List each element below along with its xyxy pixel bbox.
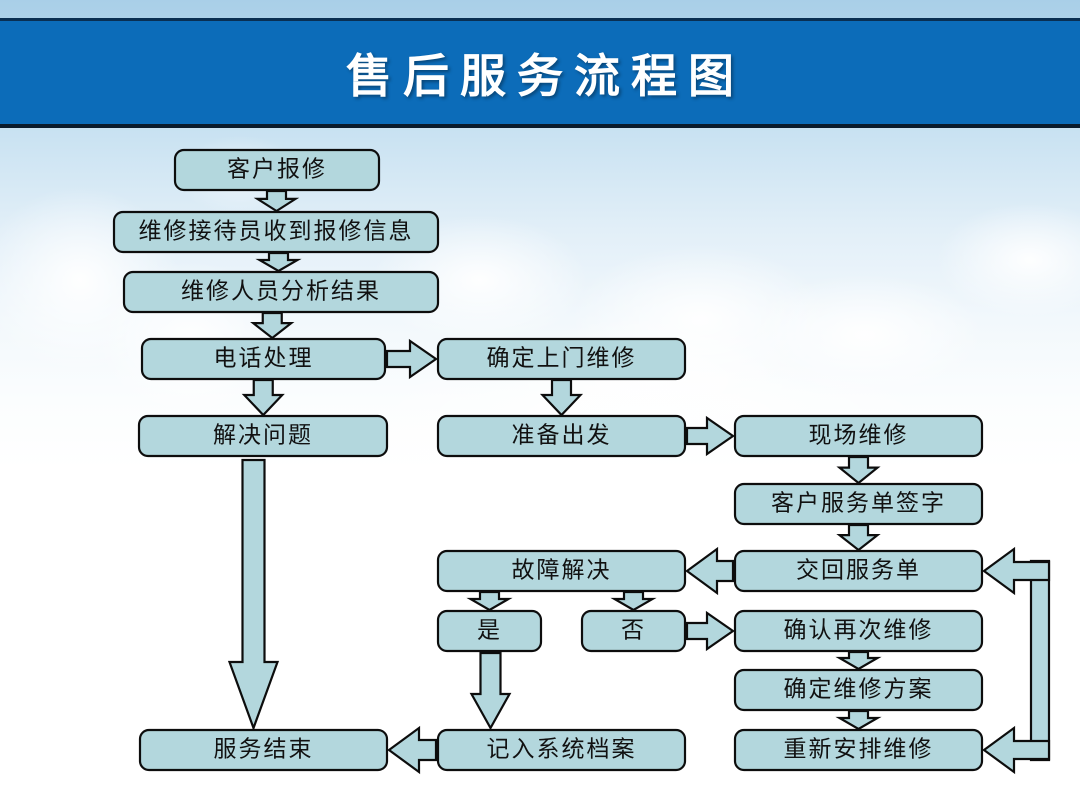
flow-arrow-down — [471, 592, 509, 610]
flow-node-label: 否 — [621, 617, 646, 642]
flow-arrow-down — [472, 653, 510, 728]
flow-node-label: 电话处理 — [214, 345, 314, 370]
flow-node-label: 客户服务单签字 — [771, 490, 946, 515]
flow-node-label: 是 — [477, 617, 502, 642]
flow-node-label: 重新安排维修 — [784, 736, 934, 761]
flow-node-label: 维修人员分析结果 — [181, 278, 381, 303]
flow-arrow-long-down — [230, 460, 278, 728]
flow-arrow-left — [389, 728, 436, 772]
flow-loop-spine — [1031, 561, 1049, 760]
flow-node-label: 解决问题 — [213, 422, 313, 447]
flow-arrow-down — [253, 313, 291, 338]
flow-arrow-right — [387, 341, 436, 377]
flow-node-label: 维修接待员收到报修信息 — [139, 218, 414, 243]
flow-node-label: 交回服务单 — [796, 557, 921, 582]
flow-node[interactable]: 维修接待员收到报修信息 — [114, 212, 438, 252]
flow-node-label: 客户报修 — [227, 156, 327, 181]
flow-node[interactable]: 客户报修 — [175, 150, 379, 190]
flow-node[interactable]: 是 — [438, 611, 541, 651]
flow-node[interactable]: 重新安排维修 — [735, 730, 982, 770]
flow-node[interactable]: 电话处理 — [142, 339, 385, 379]
flow-arrow-down — [840, 525, 878, 550]
flow-node-label: 故障解决 — [512, 557, 612, 582]
flow-node[interactable]: 确认再次维修 — [735, 611, 982, 651]
flow-node[interactable]: 记入系统档案 — [438, 730, 685, 770]
flow-arrow-down — [260, 253, 298, 271]
flow-node[interactable]: 准备出发 — [438, 416, 685, 456]
flow-node[interactable]: 故障解决 — [438, 551, 685, 591]
flow-arrow-down — [543, 380, 581, 415]
flow-node[interactable]: 维修人员分析结果 — [124, 272, 438, 312]
flow-arrow-right — [687, 613, 733, 649]
flowchart-slide: 售后服务流程图 客户报修维修接待员收到报修信息维修人员分析结果电话处理确定上门维… — [0, 0, 1080, 810]
flow-node-label: 确定上门维修 — [487, 345, 637, 370]
flow-node-label: 记入系统档案 — [487, 736, 637, 761]
flow-node[interactable]: 交回服务单 — [735, 551, 982, 591]
flow-node-label: 现场维修 — [809, 422, 909, 447]
flow-node[interactable]: 客户服务单签字 — [735, 484, 982, 524]
flow-arrow-down — [840, 711, 878, 729]
flow-arrow-right — [687, 418, 733, 454]
flow-node-label: 准备出发 — [512, 422, 612, 447]
flow-arrow-down — [258, 191, 296, 211]
flow-node[interactable]: 否 — [582, 611, 685, 651]
flow-arrow-down — [840, 457, 878, 483]
flow-node[interactable]: 现场维修 — [735, 416, 982, 456]
flow-node-label: 服务结束 — [214, 736, 314, 761]
flow-arrow-left — [687, 549, 733, 593]
flow-arrow-down — [615, 592, 653, 610]
flow-node[interactable]: 解决问题 — [139, 416, 387, 456]
flow-node-label: 确定维修方案 — [784, 676, 934, 701]
flowchart-canvas: 客户报修维修接待员收到报修信息维修人员分析结果电话处理确定上门维修解决问题准备出… — [0, 0, 1080, 810]
flow-arrow-down — [840, 652, 878, 669]
flow-node[interactable]: 服务结束 — [140, 730, 387, 770]
flow-node[interactable]: 确定上门维修 — [438, 339, 685, 379]
flow-node-label: 确认再次维修 — [784, 617, 934, 642]
flow-node[interactable]: 确定维修方案 — [735, 670, 982, 710]
flow-arrow-down — [244, 380, 282, 415]
